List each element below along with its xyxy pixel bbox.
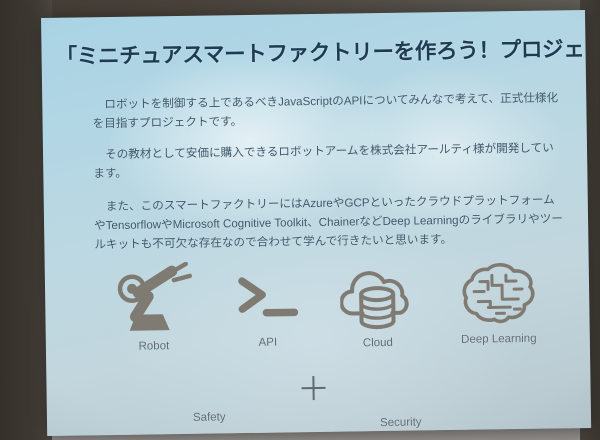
icon-cell-api: API (221, 266, 314, 349)
slide-paragraph-1: ロボットを制御する上であるべきJavaScriptのAPIについてみんなで考えて… (92, 88, 563, 133)
icon-cell-cloud: Cloud (331, 262, 424, 349)
presentation-slide: 「ミニチュアスマートファクトリーを作ろう！プロジェクト」とは ロボットを制御する… (41, 10, 591, 436)
icon-label-cloud: Cloud (332, 336, 424, 349)
icon-label-api: API (222, 336, 314, 349)
icon-cell-robot: Robot (107, 262, 200, 353)
icon-cell-deep-learning: Deep Learning (443, 260, 554, 346)
robot-arm-icon (107, 262, 200, 337)
label-safety: Safety (193, 411, 226, 423)
slide-title: 「ミニチュアスマートファクトリーを作ろう！プロジェクト」とは (55, 32, 575, 71)
brain-circuit-icon (443, 260, 554, 330)
label-security: Security (380, 416, 422, 429)
icon-label-robot: Robot (108, 340, 200, 353)
icon-label-deep-learning: Deep Learning (444, 332, 554, 346)
slide-paragraph-3: また、このスマートファクトリーにはAzureやGCPといったクラウドプラットフォ… (94, 190, 565, 254)
terminal-prompt-icon (221, 266, 314, 333)
cloud-database-icon (331, 262, 424, 333)
plus-icon (301, 376, 327, 402)
slide-paragraph-2: その教材として安価に購入できるロボットアームを株式会社アールティ様が開発していま… (93, 138, 564, 183)
projection-screen: 「ミニチュアスマートファクトリーを作ろう！プロジェクト」とは ロボットを制御する… (37, 0, 595, 436)
